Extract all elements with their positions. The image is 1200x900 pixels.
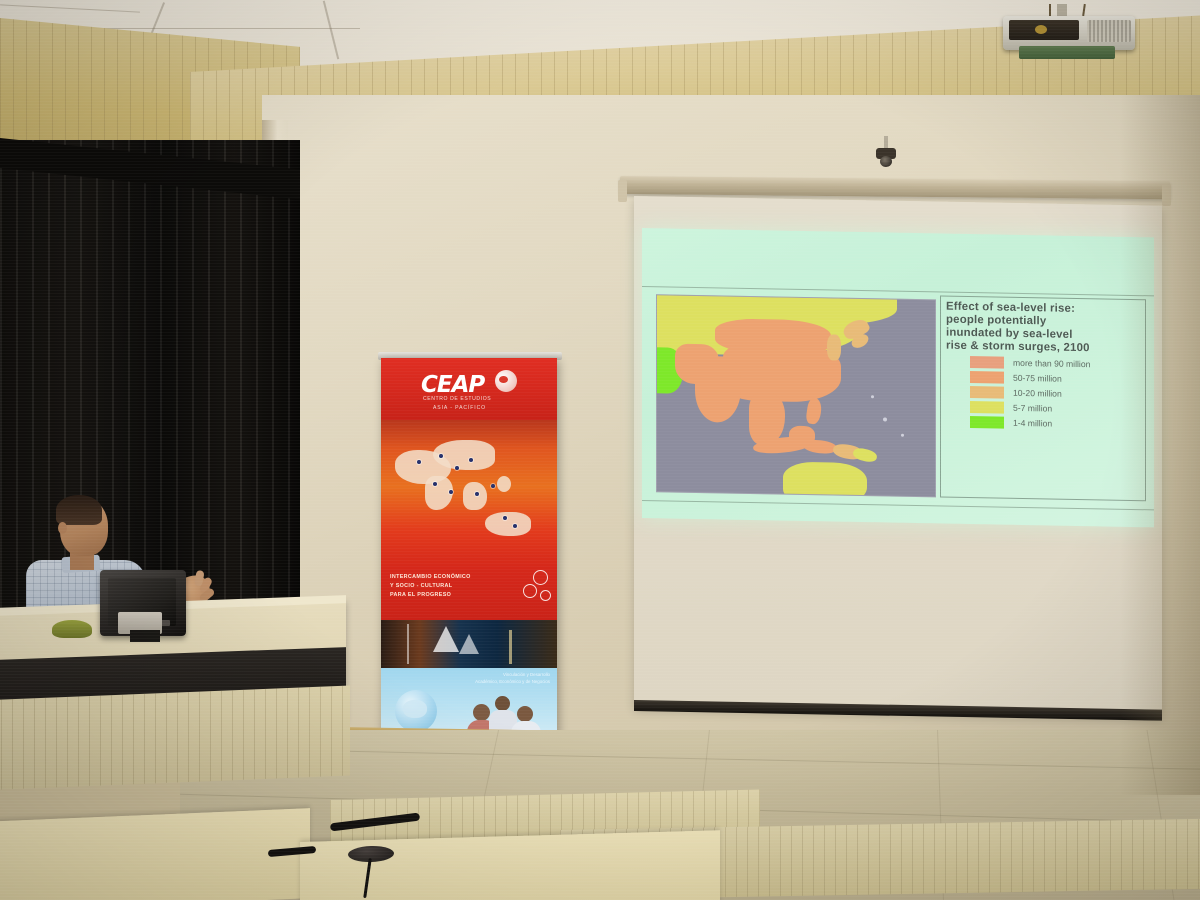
legend-label: more than 90 million xyxy=(1013,358,1090,369)
banner-map-panel xyxy=(381,420,557,568)
slide-legend: Effect of sea-level rise: people potenti… xyxy=(940,295,1146,501)
slide-map xyxy=(656,294,936,497)
legend-label: 1-4 million xyxy=(1013,418,1052,429)
legend-swatch xyxy=(970,416,1004,429)
front-desk-left xyxy=(0,808,310,900)
legend-swatch xyxy=(970,401,1004,414)
ceiling-projector xyxy=(995,4,1145,62)
legend-label: 50-75 million xyxy=(1013,373,1062,384)
banner-slogan-line-1: INTERCAMBIO ECONÓMICO xyxy=(390,574,471,580)
banner-claim-line-1: Vinculación y Desarrollo xyxy=(503,672,550,677)
monitor-stand xyxy=(130,630,160,642)
legend-title: Effect of sea-level rise: people potenti… xyxy=(946,301,1140,357)
desk-object xyxy=(52,620,92,638)
ceap-banner: CEAP CENTRO DE ESTUDIOS ASIA - PACÍFICO … xyxy=(381,358,557,768)
seal-icon-2 xyxy=(523,584,537,598)
banner-slogan-panel: INTERCAMBIO ECONÓMICO Y SOCIO - CULTURAL… xyxy=(381,568,557,623)
legend-item: 1-4 million xyxy=(946,416,1140,432)
legend-item: 10-20 million xyxy=(946,386,1140,402)
camera-lens-icon xyxy=(880,156,892,167)
microphone-stem xyxy=(363,858,372,898)
lecture-hall-photo: Effect of sea-level rise: people potenti… xyxy=(0,0,1200,900)
projector-lens xyxy=(1035,25,1047,34)
presenter-hair xyxy=(56,495,102,525)
ceap-subtitle-2: ASIA - PACÍFICO xyxy=(433,405,486,411)
presenter-ear xyxy=(58,522,67,534)
legend-swatch xyxy=(970,371,1004,384)
projector-vents xyxy=(1087,20,1131,42)
legend-item: 5-7 million xyxy=(946,401,1140,417)
legend-swatch xyxy=(970,386,1004,399)
front-desk-right xyxy=(300,830,720,900)
legend-title-line-4: rise & storm surges, 2100 xyxy=(946,340,1140,357)
legend-swatch xyxy=(970,356,1004,369)
banner-logo-panel: CEAP CENTRO DE ESTUDIOS ASIA - PACÍFICO xyxy=(381,358,557,420)
banner-slogan-line-3: PARA EL PROGRESO xyxy=(390,592,451,598)
seal-icon-1 xyxy=(533,570,548,585)
ceap-subtitle-1: CENTRO DE ESTUDIOS xyxy=(423,396,491,402)
banner-claim-line-2: Académico, Económico y de Negocios xyxy=(475,679,550,684)
banner-city-photos xyxy=(381,620,557,668)
seating-tier-1 xyxy=(0,686,350,790)
projector-base-plate xyxy=(1019,46,1115,59)
wall-shading xyxy=(1120,95,1200,795)
legend-item: 50-75 million xyxy=(946,371,1140,387)
globe-icon xyxy=(395,690,437,732)
legend-label: 5-7 million xyxy=(1013,403,1052,414)
ceap-logo-mark-icon xyxy=(495,370,517,392)
projected-slide: Effect of sea-level rise: people potenti… xyxy=(642,228,1154,527)
ceap-logo-text: CEAP xyxy=(421,372,484,398)
legend-label: 10-20 million xyxy=(1013,388,1062,399)
legend-item: more than 90 million xyxy=(946,356,1140,372)
seal-icon-3 xyxy=(540,590,551,601)
banner-slogan-line-2: Y SOCIO - CULTURAL xyxy=(390,583,452,589)
screen-bracket-left xyxy=(618,180,627,202)
